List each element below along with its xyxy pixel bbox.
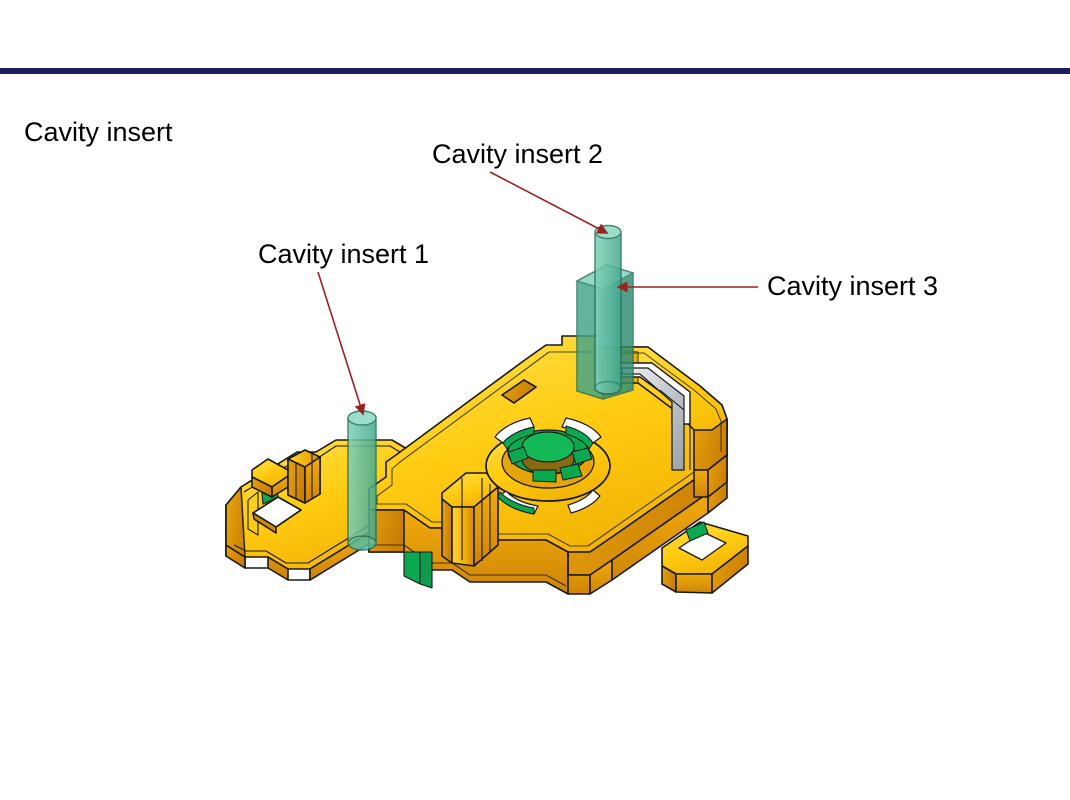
cavity-insert-1-cylinder xyxy=(348,411,376,550)
hub-green-notch-bottom xyxy=(533,470,556,482)
leader-line-cavity-insert-2 xyxy=(490,172,607,233)
insert-green-sliver-front-2 xyxy=(420,552,432,588)
insert-green-sliver-front xyxy=(404,552,420,584)
cad-model-viewport xyxy=(0,0,1070,800)
model-body xyxy=(226,336,748,594)
raised-boss-rib xyxy=(442,473,498,566)
leader-line-cavity-insert-1 xyxy=(318,272,363,414)
slide-canvas: Cavity insert Cavity insert 1 Cavity ins… xyxy=(0,0,1070,800)
cavity-insert-2-cylinder xyxy=(595,226,621,395)
